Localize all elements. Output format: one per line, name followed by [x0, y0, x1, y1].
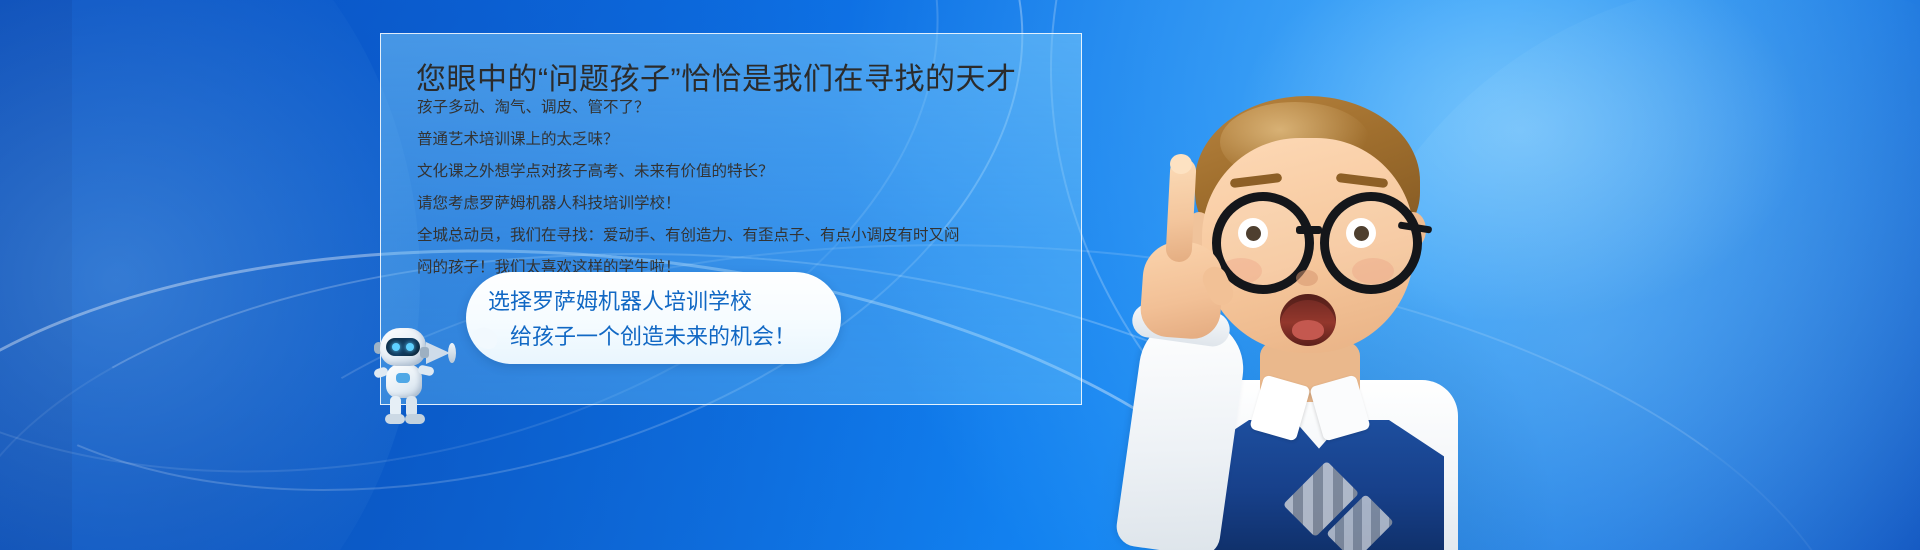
callout-speech-bubble: 选择罗萨姆机器人培训学校 给孩子一个创造未来的机会！ — [466, 272, 841, 364]
eyeglasses-bridge — [1296, 226, 1322, 234]
megaphone-mouth — [448, 343, 456, 363]
robot-eye-left — [392, 343, 400, 351]
body-line: 孩子多动、淘气、调皮、管不了？ — [417, 97, 1057, 119]
megaphone-cone — [426, 342, 450, 364]
eyeglasses-lens-right — [1320, 192, 1422, 294]
page-title: 您眼中的“问题孩子”恰恰是我们在寻找的天才 — [416, 54, 1016, 98]
fingertip — [1170, 154, 1192, 174]
megaphone-handle — [420, 347, 429, 358]
callout-line-2: 给孩子一个创造未来的机会！ — [510, 319, 796, 351]
body-line: 文化课之外想学点对孩子高考、未来有价值的特长？ — [417, 161, 1057, 183]
callout-line-1: 选择罗萨姆机器人培训学校 — [488, 284, 752, 316]
body-copy: 孩子多动、淘气、调皮、管不了？ 普通艺术培训课上的太乏味？ 文化课之外想学点对孩… — [417, 97, 1057, 289]
body-line: 普通艺术培训课上的太乏味？ — [417, 129, 1057, 151]
robot-foot-right — [405, 414, 425, 424]
robot-chest-panel — [396, 373, 410, 383]
robot-foot-left — [385, 414, 405, 424]
nose — [1296, 270, 1318, 286]
body-line: 全城总动员，我们在寻找：爱动手、有创造力、有歪点子、有点小调皮有时又闷 — [417, 225, 1057, 247]
robot-eye-right — [406, 343, 414, 351]
body-line: 请您考虑罗萨姆机器人科技培训学校！ — [417, 193, 1057, 215]
megaphone-icon — [420, 340, 454, 366]
tongue — [1292, 320, 1324, 340]
robot-mascot-icon — [372, 318, 468, 426]
left-edge-shade — [0, 0, 72, 550]
promo-banner: 您眼中的“问题孩子”恰恰是我们在寻找的天才 孩子多动、淘气、调皮、管不了？ 普通… — [0, 0, 1920, 550]
